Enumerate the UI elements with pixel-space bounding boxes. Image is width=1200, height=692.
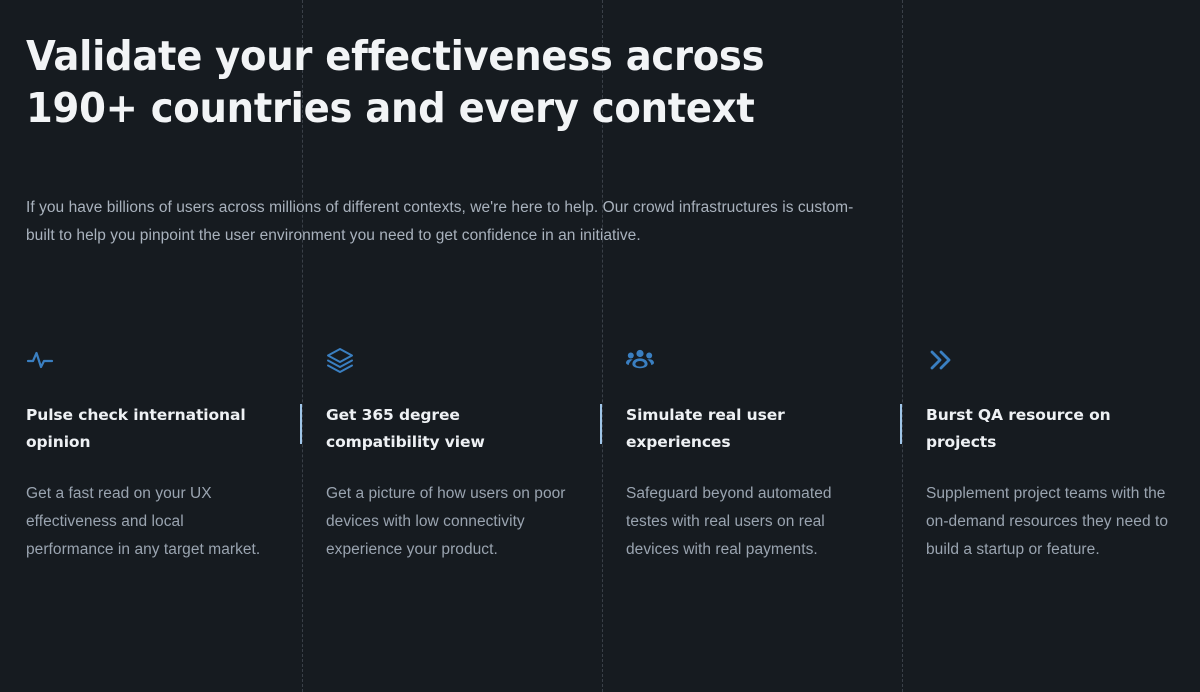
feature-body: Get a picture of how users on poor devic… xyxy=(326,480,572,564)
feature-title: Get 365 degree compatibility view xyxy=(326,402,572,456)
hero-subtitle: If you have billions of users across mil… xyxy=(26,194,878,250)
feature-title: Simulate real user experiences xyxy=(626,402,872,456)
accent-bar xyxy=(300,404,302,444)
pulse-activity-icon xyxy=(26,346,54,374)
feature-card-compatibility-view: Get 365 degree compatibility view Get a … xyxy=(300,346,600,564)
double-chevron-right-icon xyxy=(926,346,954,374)
feature-title-wrap: Get 365 degree compatibility view xyxy=(326,402,572,456)
feature-body: Supplement project teams with the on-dem… xyxy=(926,480,1172,564)
layers-stack-icon xyxy=(326,346,354,374)
hero-section: Validate your effectiveness across 190+ … xyxy=(26,30,816,134)
feature-title: Pulse check international opinion xyxy=(26,402,272,456)
feature-list: Pulse check international opinion Get a … xyxy=(0,346,1200,564)
feature-card-burst-qa: Burst QA resource on projects Supplement… xyxy=(900,346,1200,564)
feature-body: Safeguard beyond automated testes with r… xyxy=(626,480,872,564)
accent-bar xyxy=(600,404,602,444)
feature-title: Burst QA resource on projects xyxy=(926,402,1172,456)
users-group-icon xyxy=(626,346,654,374)
feature-title-wrap: Burst QA resource on projects xyxy=(926,402,1172,456)
page-root: Validate your effectiveness across 190+ … xyxy=(0,0,1200,692)
feature-card-pulse-check: Pulse check international opinion Get a … xyxy=(0,346,300,564)
feature-card-simulate-users: Simulate real user experiences Safeguard… xyxy=(600,346,900,564)
accent-bar xyxy=(900,404,902,444)
page-title: Validate your effectiveness across 190+ … xyxy=(26,30,769,134)
feature-title-wrap: Pulse check international opinion xyxy=(26,402,272,456)
feature-title-wrap: Simulate real user experiences xyxy=(626,402,872,456)
feature-body: Get a fast read on your UX effectiveness… xyxy=(26,480,272,564)
